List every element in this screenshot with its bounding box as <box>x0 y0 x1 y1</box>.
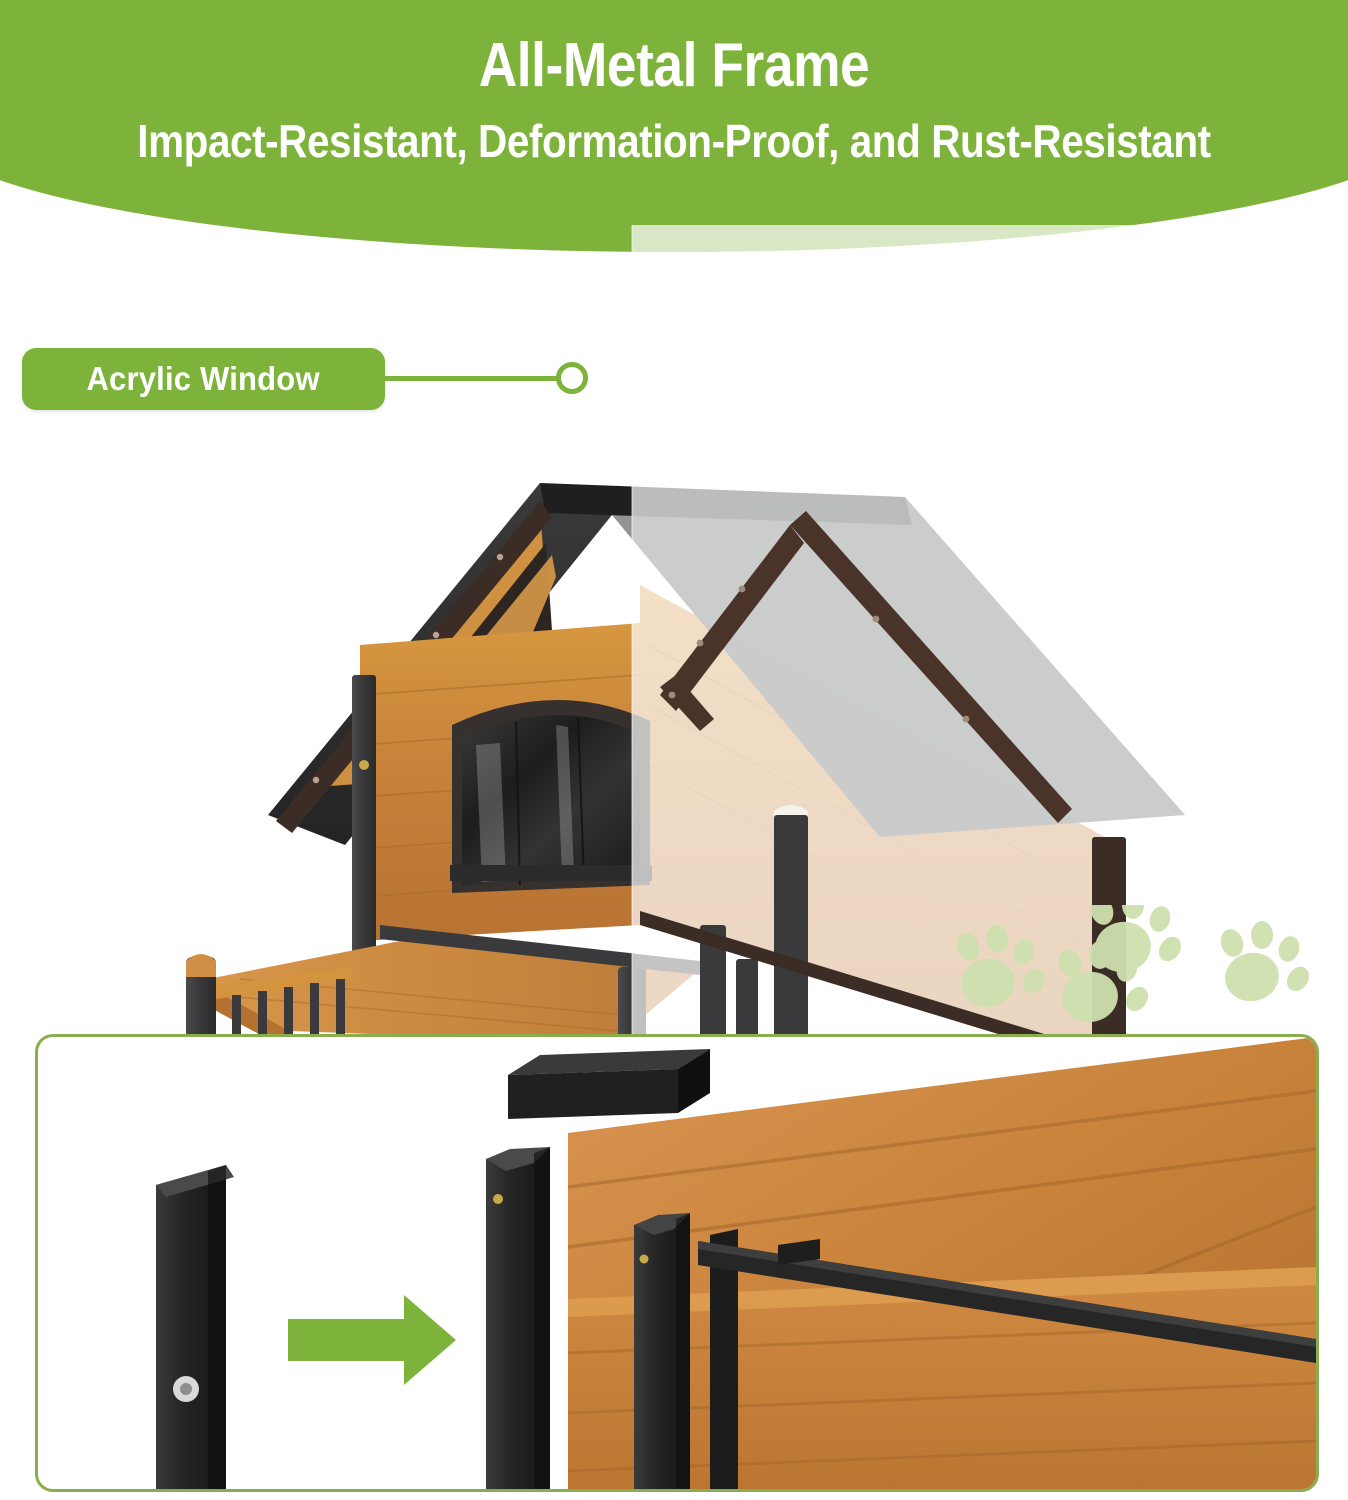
page-title: All-Metal Frame <box>94 34 1253 98</box>
xray-transition-seam <box>631 225 633 1035</box>
assembly-arrow-icon <box>288 1295 456 1385</box>
header-banner: All-Metal Frame Impact-Resistant, Deform… <box>0 0 1348 252</box>
paw-print <box>953 924 1049 1012</box>
detail-panel-metal-post-assembly <box>35 1034 1319 1492</box>
callout-label: Acrylic Window <box>87 360 320 398</box>
paw-print <box>1217 921 1313 1006</box>
post-screw <box>359 760 369 770</box>
door-threshold <box>450 865 652 881</box>
callout-acrylic-window[interactable]: Acrylic Window <box>22 348 385 410</box>
xray-post-tall <box>774 815 808 1035</box>
page-subtitle: Impact-Resistant, Deformation-Proof, and… <box>81 116 1267 166</box>
railing-post-cap <box>186 954 216 977</box>
callout-leader-line <box>383 376 575 381</box>
corner-post-left <box>352 675 376 963</box>
callout-marker-dot <box>556 362 588 394</box>
xray-post-c <box>736 959 758 1035</box>
paw-print <box>1055 905 1185 1025</box>
square-metal-tube-top <box>508 1049 710 1119</box>
installed-metal-post <box>486 1147 550 1489</box>
detached-metal-post <box>156 1165 234 1489</box>
post-assembly-illustration <box>38 1037 1316 1489</box>
paw-print-decoration <box>940 905 1320 1025</box>
